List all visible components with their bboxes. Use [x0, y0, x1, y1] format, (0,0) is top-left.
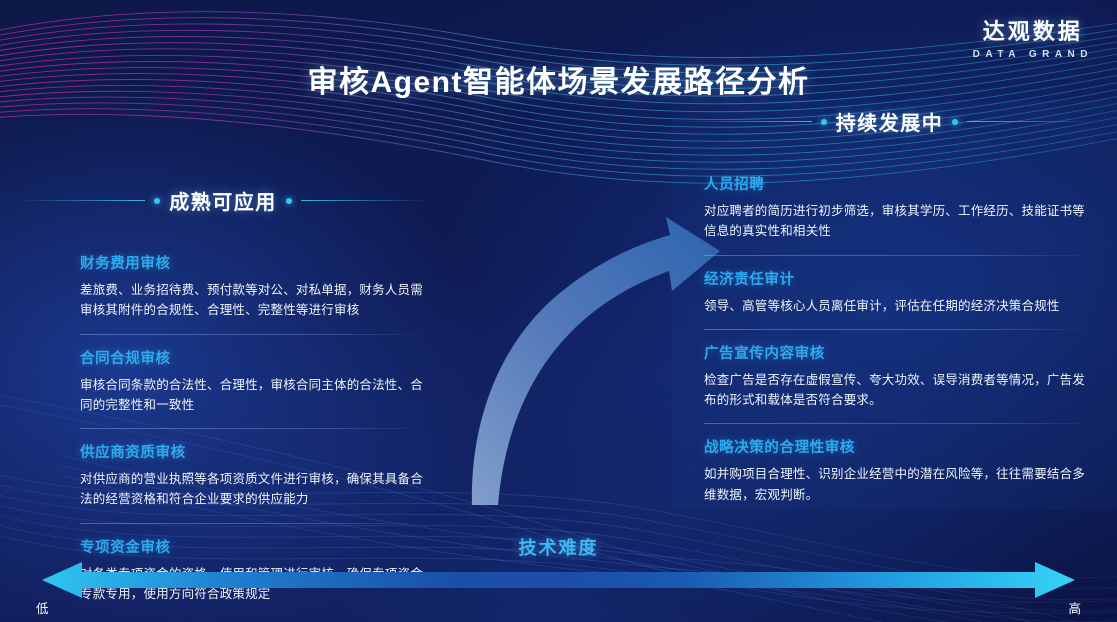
- item-description: 差旅费、业务招待费、预付款等对公、对私单据，财务人员需审核其附件的合规性、合理性…: [80, 280, 428, 321]
- double-headed-horizontal-arrow-icon: [0, 560, 1117, 600]
- bullet-dot-icon: [952, 119, 958, 125]
- item-title: 供应商资质审核: [80, 441, 428, 462]
- list-item[interactable]: 战略决策的合理性审核 如并购项目合理性、识别企业经营中的潜在风险等，往往需要结合…: [682, 423, 1097, 518]
- item-title: 合同合规审核: [80, 347, 428, 368]
- axis-title: 技术难度: [0, 534, 1117, 560]
- page-title: 审核Agent智能体场景发展路径分析: [0, 57, 1117, 101]
- right-header-rule-right: [967, 121, 1097, 122]
- item-description: 对应聘者的简历进行初步筛选，审核其学历、工作经历、技能证书等信息的真实性和相关性: [704, 201, 1097, 242]
- right-section-title: 持续发展中: [836, 107, 944, 136]
- left-header-rule-left: [18, 200, 145, 201]
- item-description: 领导、高管等核心人员离任审计，评估在任期的经济决策合规性: [704, 296, 1097, 316]
- brand-logo: 达观数据 DATA GRAND: [973, 14, 1093, 60]
- item-title: 经济责任审计: [704, 268, 1097, 289]
- list-item[interactable]: 供应商资质审核 对供应商的营业执照等各项资质文件进行审核，确保其具备合法的经营资…: [18, 428, 428, 523]
- item-title: 广告宣传内容审核: [704, 342, 1097, 363]
- logo-cn-text: 达观数据: [973, 14, 1093, 46]
- list-item[interactable]: 财务费用审核 差旅费、业务招待费、预付款等对公、对私单据，财务人员需审核其附件的…: [18, 239, 428, 334]
- logo-en-text: DATA GRAND: [973, 49, 1093, 60]
- item-title: 人员招聘: [704, 173, 1097, 194]
- bullet-dot-icon: [821, 119, 827, 125]
- list-item[interactable]: 合同合规审核 审核合同条款的合法性、合理性，审核合同主体的合法性、合同的完整性和…: [18, 334, 428, 429]
- left-section-title: 成熟可应用: [169, 186, 277, 215]
- left-header-rule-right: [301, 200, 428, 201]
- axis-low-label: 低: [36, 598, 49, 617]
- item-description: 审核合同条款的合法性、合理性，审核合同主体的合法性、合同的完整性和一致性: [80, 375, 428, 416]
- list-item[interactable]: 广告宣传内容审核 检查广告是否存在虚假宣传、夸大功效、误导消费者等情况，广告发布…: [682, 329, 1097, 424]
- slide-canvas: 审核Agent智能体场景发展路径分析 达观数据 DATA GRAND 成熟可应用…: [0, 0, 1117, 622]
- item-title: 战略决策的合理性审核: [704, 436, 1097, 457]
- list-item[interactable]: 经济责任审计 领导、高管等核心人员离任审计，评估在任期的经济决策合规性: [682, 255, 1097, 329]
- difficulty-axis: 技术难度 低 高: [0, 532, 1117, 622]
- item-description: 对供应商的营业执照等各项资质文件进行审核，确保其具备合法的经营资格和符合企业要求…: [80, 469, 428, 510]
- right-section-header: 持续发展中: [682, 107, 1097, 136]
- item-description: 检查广告是否存在虚假宣传、夸大功效、误导消费者等情况，广告发布的形式和载体是否符…: [704, 370, 1097, 411]
- bullet-dot-icon: [286, 198, 292, 204]
- item-description: 如并购项目合理性、识别企业经营中的潜在风险等，往往需要结合多维数据，宏观判断。: [704, 464, 1097, 505]
- axis-high-label: 高: [1068, 598, 1081, 617]
- right-header-rule-left: [682, 121, 812, 122]
- bullet-dot-icon: [154, 198, 160, 204]
- left-section-header: 成熟可应用: [18, 186, 428, 215]
- list-item[interactable]: 人员招聘 对应聘者的简历进行初步筛选，审核其学历、工作经历、技能证书等信息的真实…: [682, 160, 1097, 255]
- in-development-column: 持续发展中 人员招聘 对应聘者的简历进行初步筛选，审核其学历、工作经历、技能证书…: [682, 107, 1097, 518]
- item-title: 财务费用审核: [80, 252, 428, 273]
